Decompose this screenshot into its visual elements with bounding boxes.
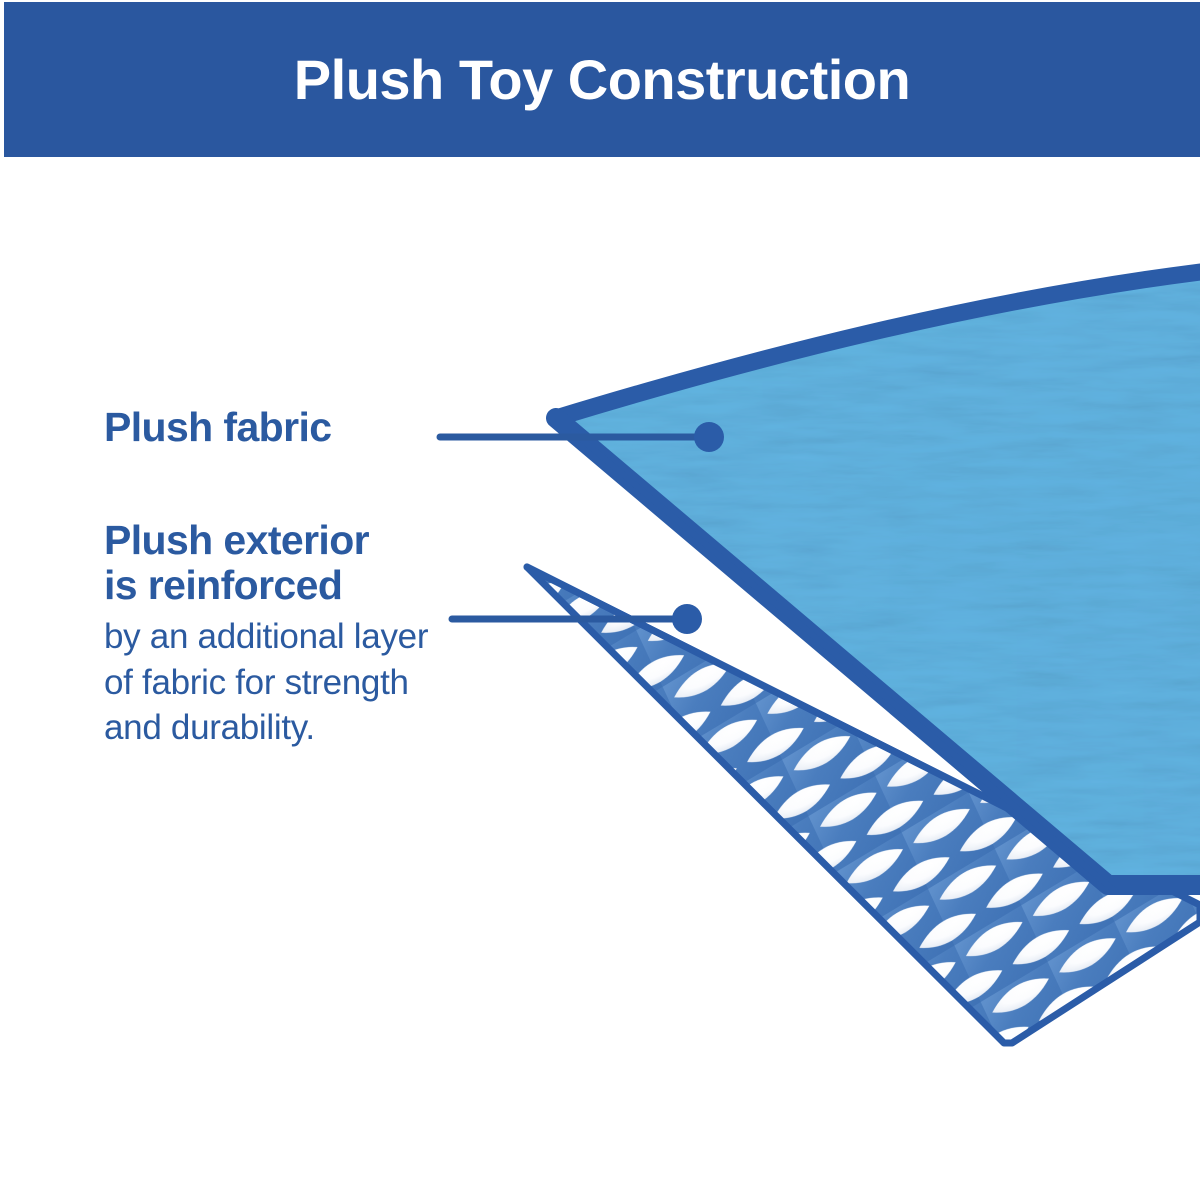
callout-plush-exterior-body: by an additional layer of fabric for str… <box>104 608 584 751</box>
infographic-page: Plush Toy Construction <box>0 0 1200 1200</box>
leader-dot-plush-exterior <box>672 604 702 634</box>
callout-plush-fabric: Plush fabric <box>104 405 484 450</box>
leader-dot-plush-fabric <box>694 422 724 452</box>
callout-plush-exterior-heading: Plush exterior is reinforced <box>104 518 584 608</box>
callout-plush-fabric-heading: Plush fabric <box>104 405 484 450</box>
callout-plush-exterior: Plush exterior is reinforced by an addit… <box>104 518 584 751</box>
